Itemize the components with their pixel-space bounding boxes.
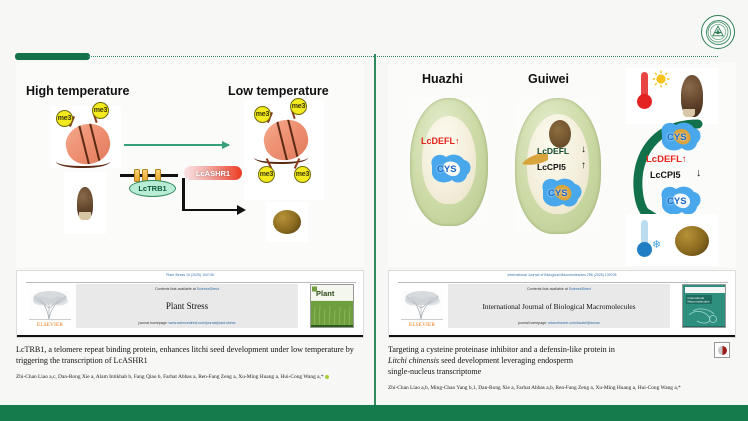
huazhi-lcdefl-label: LcDEFL↑ (421, 136, 460, 146)
right-panel: Huazhi Guiwei LcDEFL↑ CYS (380, 62, 742, 404)
high-temp-seed-photo (64, 172, 106, 234)
me3-mark: me3 (290, 98, 307, 115)
cycle-cys-label-bottom: CYS (667, 196, 687, 207)
guiwei-embryo (549, 120, 571, 148)
cycle-cys-label-top: CYS (667, 132, 687, 143)
right-figure: Huazhi Guiwei LcDEFL↑ CYS (388, 62, 736, 267)
svg-text:Macromolecules: Macromolecules (688, 300, 710, 304)
high-temperature-thermometer-icon (636, 72, 653, 112)
orcid-icon (325, 375, 330, 380)
left-figure: High temperature Low temperature me3 me3 (16, 62, 364, 267)
slide-canvas: High temperature Low temperature me3 me3 (0, 0, 748, 421)
sun-icon (652, 70, 670, 88)
elsevier-logo: ELSEVIER (398, 284, 446, 328)
guiwei-lccpi5-arrow: ↑ (581, 160, 586, 171)
elsevier-wordmark: ELSEVIER (409, 322, 435, 328)
right-article-authors: Zhi-Chan Liao a,b, Ming-Chao Yang b,1, D… (388, 384, 736, 392)
me3-mark: me3 (254, 106, 271, 123)
huazhi-cys-label: CYS (437, 164, 457, 175)
low-temperature-thermometer-icon (636, 220, 653, 260)
journal-homepage-line: journal homepage: www.sciencedirect.com/… (139, 321, 236, 325)
journal-homepage-link[interactable]: www.sciencedirect.com/journal/plant-stre… (169, 321, 236, 325)
activation-arrow (182, 178, 248, 213)
journal-homepage-link[interactable]: www.elsevier.com/locate/ijbiomac (548, 321, 600, 325)
right-journal-citation: International Journal of Biological Macr… (389, 273, 735, 277)
snowflake-icon: ❄ (652, 238, 661, 251)
left-journal-banner: Plant Stress 15 (2025) 100745 (16, 270, 364, 338)
ijbm-cover-art: International Macromolecules (683, 285, 726, 328)
left-journal-header: Contents lists available at ScienceDirec… (76, 284, 298, 328)
cultivar-guiwei-label: Guiwei (528, 72, 569, 86)
right-journal-banner: International Journal of Biological Macr… (388, 270, 736, 338)
sciencedirect-link[interactable]: ScienceDirect (197, 287, 219, 291)
aborted-seed (77, 187, 93, 220)
right-article-block: Targeting a cysteine proteinase inhibito… (388, 344, 736, 392)
temperature-transition-arrow (124, 144, 229, 146)
plant-stress-cover-art: Plant (311, 285, 354, 328)
guiwei-cys-label: CYS (548, 188, 568, 199)
cultivar-huazhi-label: Huazhi (422, 72, 463, 86)
left-journal-name: Plant Stress (166, 301, 208, 311)
contents-available-line: Contents lists available at ScienceDirec… (155, 287, 219, 291)
crossmark-badge (714, 342, 730, 358)
sciencedirect-link[interactable]: ScienceDirect (569, 287, 591, 291)
promoter-line (120, 174, 178, 177)
low-temp-dna-strand (254, 150, 308, 164)
guiwei-seed-section: LcDEFL ↓ LcCPI5 ↑ CYS (515, 98, 601, 234)
right-article-title: Targeting a cysteine proteinase inhibito… (388, 344, 688, 377)
footer-bar (0, 405, 748, 421)
guiwei-lccpi5-label: LcCPI5 (537, 162, 566, 172)
low-temp-developed-seed (672, 222, 712, 260)
journal-homepage-line: journal homepage: www.elsevier.com/locat… (518, 321, 600, 325)
elsevier-wordmark: ELSEVIER (37, 322, 63, 328)
telomere-repeat-box (134, 169, 140, 182)
elsevier-tree-icon (401, 290, 443, 322)
lctrb1-protein: LcTRB1 (129, 180, 176, 197)
right-journal-cover: International Macromolecules (682, 284, 726, 328)
cycle-lccpi5-arrow: ↓ (696, 167, 702, 179)
left-panel: High temperature Low temperature me3 me3 (8, 62, 370, 404)
elsevier-logo: ELSEVIER (26, 284, 74, 328)
me3-mark: me3 (294, 166, 311, 183)
contents-available-line: Contents lists available at ScienceDirec… (527, 287, 591, 291)
right-journal-name: International Journal of Biological Macr… (482, 302, 635, 311)
crossmark-icon (718, 346, 727, 355)
low-temp-seed-photo (266, 202, 308, 242)
high-temp-dna-strand (56, 154, 110, 168)
low-temperature-label: Low temperature (228, 84, 329, 98)
right-journal-header: Contents lists available at ScienceDirec… (448, 284, 670, 328)
elsevier-tree-icon (29, 290, 71, 322)
accent-bar (15, 53, 90, 60)
me3-mark: me3 (258, 166, 275, 183)
left-journal-cover: Plant (310, 284, 354, 328)
me3-mark: me3 (92, 102, 109, 119)
guiwei-lcdefl-label: LcDEFL (537, 146, 569, 156)
university-seal-logo (701, 15, 735, 49)
cycle-lccpi5-label: LcCPI5 (650, 170, 681, 180)
header-dotted-rule (88, 56, 718, 57)
guiwei-lcdefl-arrow: ↓ (581, 144, 586, 155)
huazhi-seed-section: LcDEFL↑ CYS (410, 98, 488, 226)
seal-emblem-icon (707, 21, 729, 43)
left-article-title: LcTRB1, a telomere repeat binding protei… (16, 344, 364, 366)
left-article-authors: Zhi-Chan Liao a,c, Dan-Rong Xie a, Alam … (16, 373, 364, 381)
high-temperature-label: High temperature (26, 84, 130, 98)
column-divider (374, 54, 376, 406)
left-article-block: LcTRB1, a telomere repeat binding protei… (16, 344, 364, 381)
developed-seed (273, 210, 301, 234)
svg-text:Plant: Plant (316, 289, 335, 298)
cycle-lcdefl-label: LcDEFL↑ (646, 154, 687, 165)
left-journal-citation: Plant Stress 15 (2025) 100745 (17, 273, 363, 277)
me3-mark: me3 (56, 110, 73, 127)
